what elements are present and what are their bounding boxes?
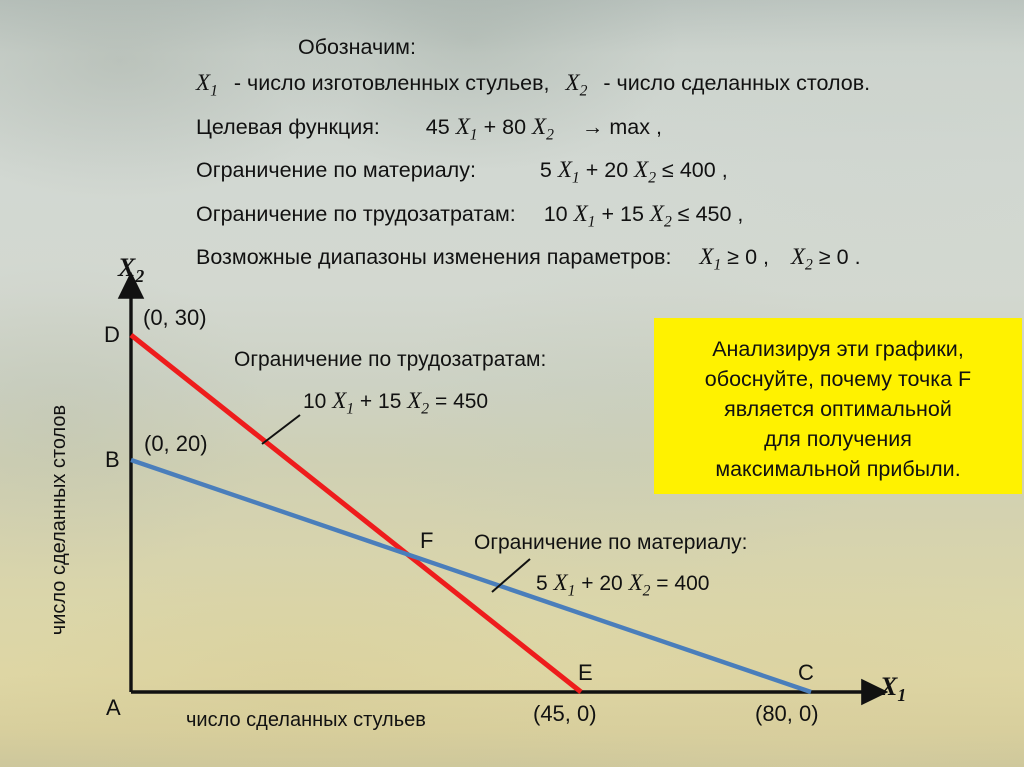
material-constraint-annotation-equation: 5 X1 + 20 X2 = 400 (536, 570, 709, 601)
point-label-d: D (104, 322, 120, 348)
y-axis-description: число сделанных столов (48, 390, 71, 650)
point-label-b: B (105, 447, 120, 473)
material-constraint-annotation-title: Ограничение по материалу: (474, 531, 747, 555)
callout-line-4: для получения (764, 424, 912, 454)
labor-constraint-annotation-equation: 10 X1 + 15 X2 = 450 (303, 388, 488, 419)
callout-line-2: обоснуйте, почему точка F (705, 364, 971, 394)
point-label-c: C (798, 660, 814, 686)
material-annotation-leader-line (492, 559, 530, 592)
coordinate-label-d: (0, 30) (143, 305, 207, 331)
x-axis-description: число сделанных стульев (186, 709, 426, 732)
point-label-f: F (420, 528, 433, 554)
x-axis-symbol-label: X1 (880, 672, 906, 706)
callout-line-1: Анализируя эти графики, (712, 334, 964, 364)
callout-line-3: является оптимальной (724, 394, 952, 424)
question-callout-box: Анализируя эти графики, обоснуйте, почем… (654, 318, 1022, 494)
y-axis-symbol-label: X2 (118, 253, 144, 287)
coordinate-label-b: (0, 20) (144, 431, 208, 457)
coordinate-label-e: (45, 0) (533, 701, 597, 727)
coordinate-label-c: (80, 0) (755, 701, 819, 727)
labor-constraint-annotation-title: Ограничение по трудозатратам: (234, 348, 546, 372)
labor-annotation-leader-line (262, 415, 300, 444)
point-label-a: A (106, 695, 121, 721)
callout-line-5: максимальной прибыли. (715, 454, 960, 484)
point-label-e: E (578, 660, 593, 686)
